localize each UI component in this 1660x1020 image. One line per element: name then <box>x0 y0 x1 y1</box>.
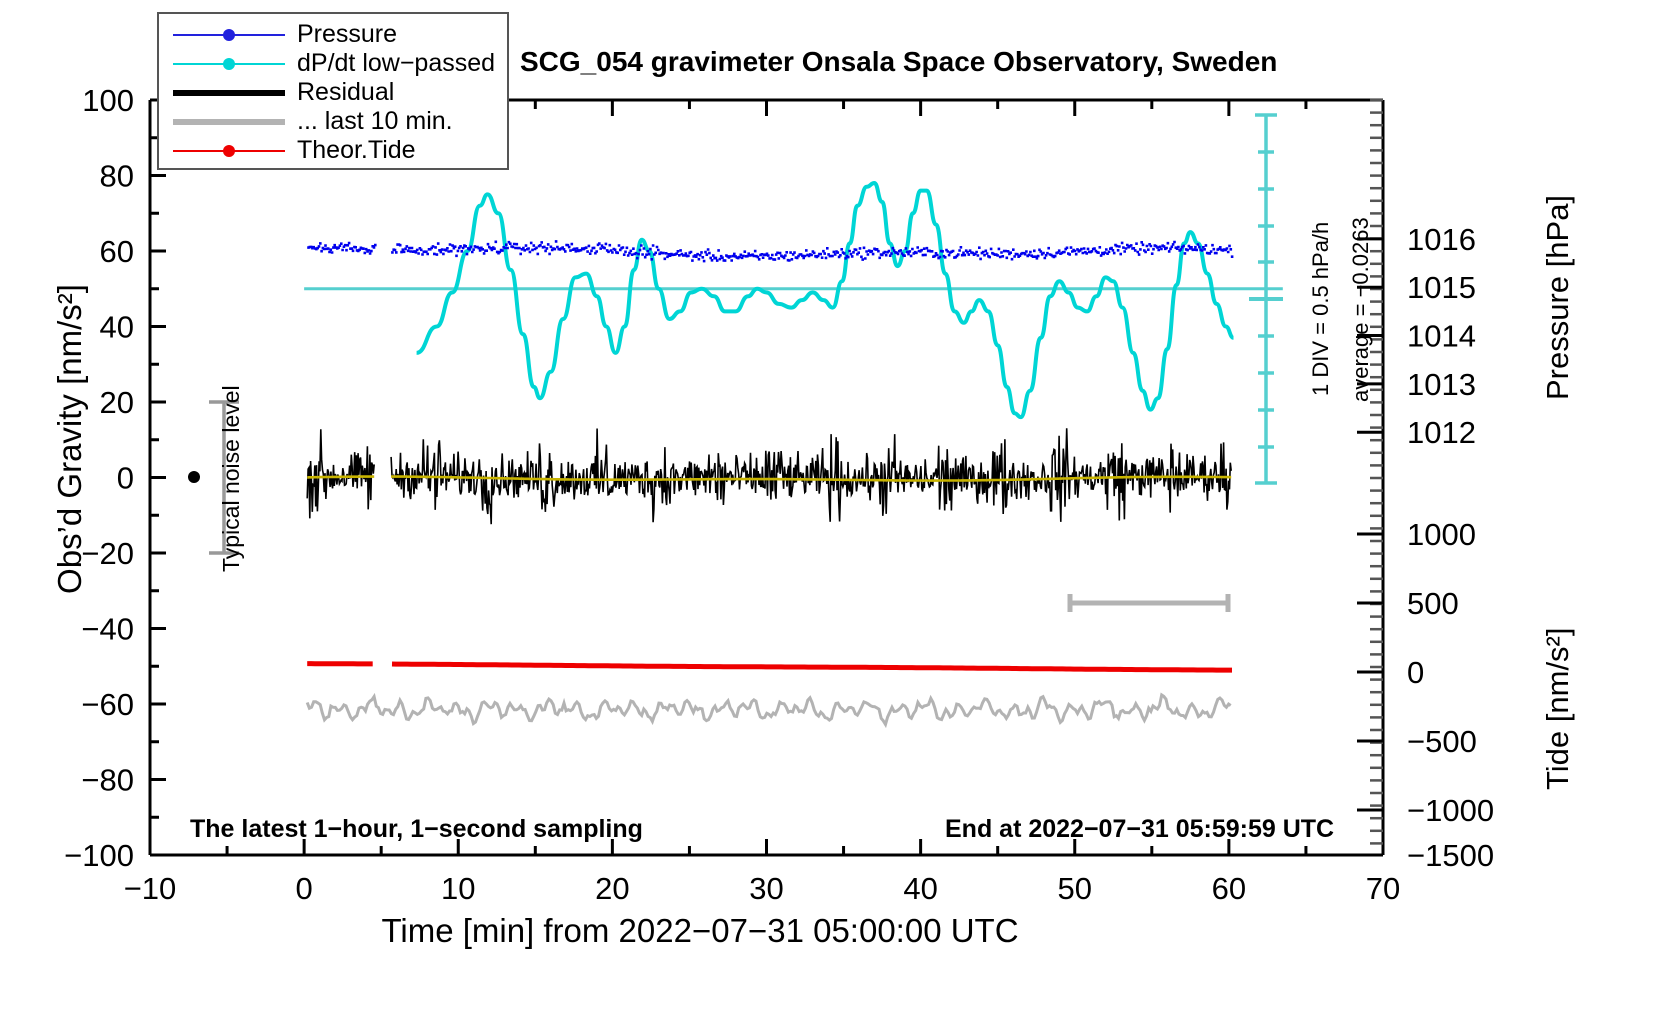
svg-text:1012: 1012 <box>1407 415 1476 450</box>
svg-text:0: 0 <box>1407 655 1424 690</box>
svg-text:−60: −60 <box>81 687 134 722</box>
svg-text:−1000: −1000 <box>1407 793 1494 828</box>
y-axis-left-label: Obs’d Gravity [nm/s²] <box>51 229 89 649</box>
svg-text:500: 500 <box>1407 586 1459 621</box>
legend-label: Residual <box>297 80 394 105</box>
svg-text:−100: −100 <box>64 838 134 873</box>
svg-text:−20: −20 <box>81 536 134 571</box>
legend-item: Residual <box>173 78 507 107</box>
svg-text:1015: 1015 <box>1407 270 1476 305</box>
bottom-right-note: End at 2022−07−31 05:59:59 UTC <box>945 815 1334 844</box>
svg-text:80: 80 <box>100 159 134 194</box>
svg-text:100: 100 <box>82 83 134 118</box>
dpdt-average-note: average = −0.0263 <box>1348 217 1374 402</box>
y-axis-right-tide-label: Tide [nm/s²] <box>1540 628 1576 791</box>
svg-text:40: 40 <box>100 310 134 345</box>
legend-swatch-dpdt <box>173 54 285 74</box>
svg-text:1014: 1014 <box>1407 319 1476 354</box>
svg-text:−10: −10 <box>124 871 177 906</box>
plot-figure: −100−80−60−40−20020406080100 −1001020304… <box>0 0 1660 1020</box>
svg-text:30: 30 <box>749 871 783 906</box>
svg-text:−40: −40 <box>81 612 134 647</box>
svg-text:40: 40 <box>903 871 937 906</box>
last-10-min-bar <box>1070 594 1228 612</box>
bottom-left-note: The latest 1−hour, 1−second sampling <box>190 815 643 844</box>
series-pressure-dots <box>307 240 1233 262</box>
svg-text:1000: 1000 <box>1407 517 1476 552</box>
legend-item: Theor.Tide <box>173 136 507 165</box>
legend-swatch-pressure <box>173 25 285 45</box>
svg-text:−1500: −1500 <box>1407 838 1494 873</box>
svg-text:70: 70 <box>1366 871 1400 906</box>
legend-item: dP/dt low−passed <box>173 49 507 78</box>
y-axis-right-pressure-label: Pressure [hPa] <box>1540 195 1576 400</box>
svg-text:50: 50 <box>1058 871 1092 906</box>
series-theoretical-tide <box>307 664 1232 671</box>
svg-text:60: 60 <box>100 234 134 269</box>
svg-text:0: 0 <box>117 461 134 496</box>
typical-noise-label: Typical noise level <box>218 385 245 572</box>
series-last-10-min <box>307 695 1230 724</box>
legend-swatch-tide <box>173 141 285 161</box>
svg-text:20: 20 <box>595 871 629 906</box>
svg-text:10: 10 <box>441 871 475 906</box>
legend-item: Pressure <box>173 20 507 49</box>
legend-label: Pressure <box>297 22 397 47</box>
svg-text:1016: 1016 <box>1407 222 1476 257</box>
legend-label: Theor.Tide <box>297 138 416 163</box>
svg-text:1013: 1013 <box>1407 367 1476 402</box>
legend-label: ... last 10 min. <box>297 109 453 134</box>
chart-title: SCG_054 gravimeter Onsala Space Observat… <box>520 46 1277 78</box>
svg-text:60: 60 <box>1212 871 1246 906</box>
svg-text:0: 0 <box>296 871 313 906</box>
dpdt-scale-note: 1 DIV = 0.5 hPa/h <box>1308 222 1334 396</box>
legend: Pressure dP/dt low−passed Residual ... l… <box>157 12 509 170</box>
legend-label: dP/dt low−passed <box>297 51 495 76</box>
dpdt-scale-bar <box>1249 115 1283 483</box>
legend-swatch-residual <box>173 83 285 103</box>
x-axis-label: Time [min] from 2022−07−31 05:00:00 UTC <box>0 912 1400 950</box>
legend-swatch-last10 <box>173 112 285 132</box>
series-dpdt-lowpassed <box>417 183 1234 417</box>
typical-noise-dot <box>188 471 200 483</box>
y-axis-right: 10121013101410151016−1500−1000−500050010… <box>1357 100 1494 873</box>
legend-item: ... last 10 min. <box>173 107 507 136</box>
svg-text:−500: −500 <box>1407 724 1477 759</box>
svg-text:20: 20 <box>100 385 134 420</box>
svg-text:−80: −80 <box>81 763 134 798</box>
